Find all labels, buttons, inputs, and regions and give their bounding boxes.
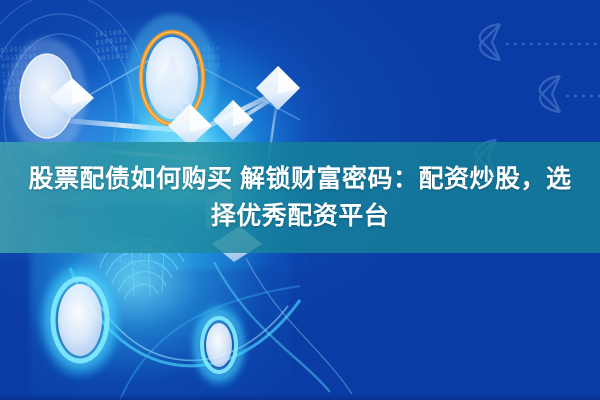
bottom-strip — [0, 394, 600, 400]
caption-line-1: 股票配债如何购买 解锁财富密码：配资炒股，选 — [29, 161, 572, 198]
caption-line-2: 择优秀配资平台 — [211, 198, 390, 235]
node-glow-lower-left — [36, 258, 124, 382]
promo-banner: 01001011 10110100 00101101 11010010 0110… — [0, 0, 600, 400]
caption-text-block: 股票配债如何购买 解锁财富密码：配资炒股，选 择优秀配资平台 — [0, 142, 600, 253]
node-glow-lower-right — [189, 301, 249, 389]
